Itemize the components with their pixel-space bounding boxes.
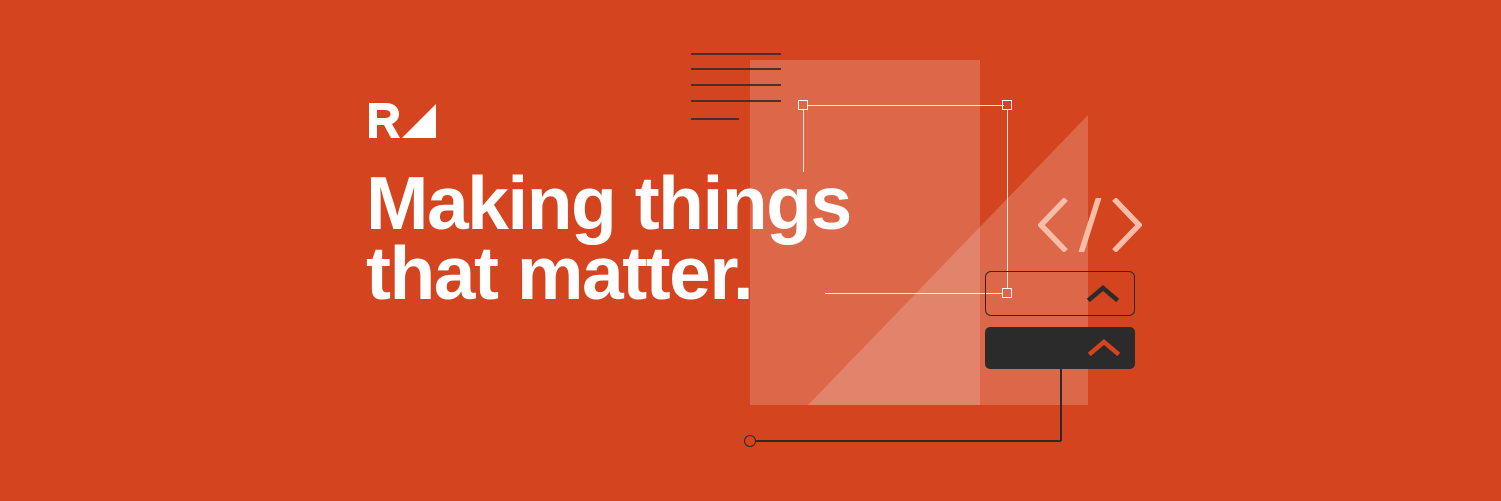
connector-endpoint-dot [744, 435, 756, 447]
placeholder-line-5 [691, 118, 739, 120]
chevron-up-solid-button[interactable] [985, 327, 1135, 369]
r-triangle-logo[interactable] [369, 103, 439, 138]
selection-handle-top-left[interactable] [798, 100, 808, 110]
chevron-up-outline-button[interactable] [985, 271, 1135, 316]
selection-line-right [1007, 110, 1008, 288]
page-title: Making things that matter. [366, 168, 986, 308]
chevron-up-icon [1086, 284, 1120, 304]
chevron-up-icon [1087, 338, 1121, 358]
placeholder-line-3 [691, 84, 781, 86]
selection-handle-top-right[interactable] [1002, 100, 1012, 110]
placeholder-line-group [691, 53, 841, 133]
connector-line-vertical [1060, 369, 1062, 441]
code-brackets-icon [1038, 198, 1142, 252]
selection-line-top [808, 105, 1004, 106]
connector-line-horizontal [756, 440, 1061, 442]
placeholder-line-2 [691, 68, 781, 70]
placeholder-line-1 [691, 53, 781, 55]
hero-banner: Making things that matter. [0, 0, 1501, 501]
placeholder-line-4 [691, 100, 781, 102]
